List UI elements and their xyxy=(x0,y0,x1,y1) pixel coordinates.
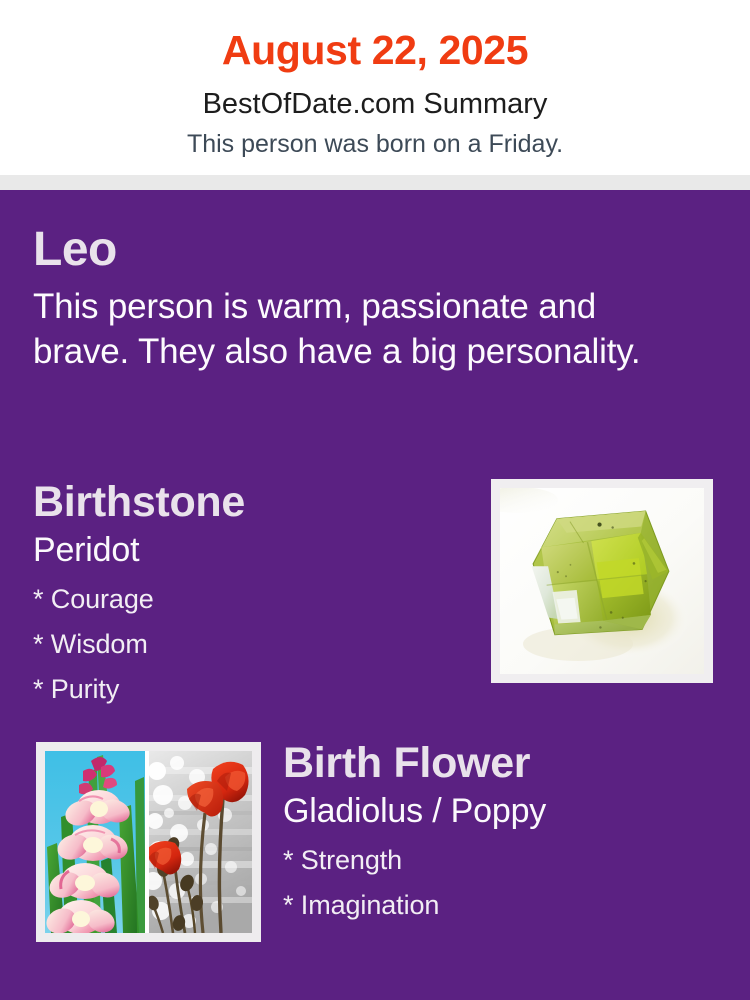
zodiac-description: This person is warm, passionate and brav… xyxy=(33,284,693,374)
list-item: * Imagination xyxy=(283,883,743,928)
header-weekday-note: This person was born on a Friday. xyxy=(0,128,750,160)
birthstone-photo-frame xyxy=(491,479,713,683)
birthstone-name: Peridot xyxy=(33,529,463,571)
header-date: August 22, 2025 xyxy=(0,25,750,75)
list-item: * Strength xyxy=(283,838,743,883)
list-item: * Wisdom xyxy=(33,622,463,667)
list-item: * Purity xyxy=(33,667,463,712)
birth-flower-section: Birth Flower Gladiolus / Poppy * Strengt… xyxy=(283,736,743,928)
list-item: * Courage xyxy=(33,577,463,622)
header-divider xyxy=(0,175,750,190)
zodiac-sign-name: Leo xyxy=(33,222,713,278)
gladiolus-poppy-icon xyxy=(45,751,252,933)
birth-flower-name: Gladiolus / Poppy xyxy=(283,790,743,832)
birth-flower-heading: Birth Flower xyxy=(283,736,743,790)
birthstone-heading: Birthstone xyxy=(33,475,463,529)
birth-flower-trait-list: * Strength * Imagination xyxy=(283,838,743,928)
card-header: August 22, 2025 BestOfDate.com Summary T… xyxy=(0,0,750,175)
birthstone-section: Birthstone Peridot * Courage * Wisdom * … xyxy=(33,475,463,712)
summary-card: August 22, 2025 BestOfDate.com Summary T… xyxy=(0,0,750,1000)
zodiac-section: Leo This person is warm, passionate and … xyxy=(33,222,713,374)
header-site-title: BestOfDate.com Summary xyxy=(0,86,750,122)
peridot-gemstone-icon xyxy=(500,488,704,674)
birth-flower-photo-frame xyxy=(36,742,261,942)
birthstone-trait-list: * Courage * Wisdom * Purity xyxy=(33,577,463,712)
